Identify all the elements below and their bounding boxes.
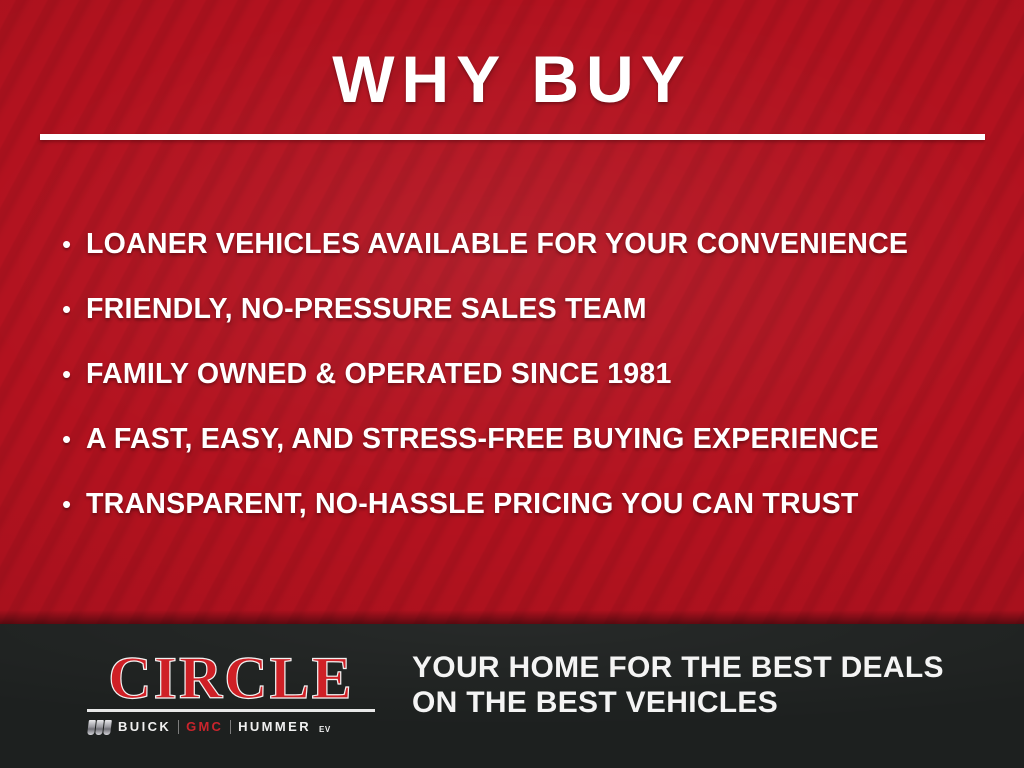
list-item: • A FAST, EASY, AND STRESS-FREE BUYING E… [62,420,1002,485]
brand-label-hummer: HUMMER [238,720,311,734]
page-title: WHY BUY [0,46,1024,112]
tagline-line-1: YOUR HOME FOR THE BEST DEALS [412,650,1012,685]
bullet-text: A FAST, EASY, AND STRESS-FREE BUYING EXP… [86,420,988,458]
tagline-line-2: ON THE BEST VEHICLES [412,685,1012,720]
bullet-dot-icon: • [62,225,86,263]
bullet-dot-icon: • [62,290,86,328]
hero-panel: WHY BUY • LOANER VEHICLES AVAILABLE FOR … [0,0,1024,624]
bullet-dot-icon: • [62,420,86,458]
list-item: • LOANER VEHICLES AVAILABLE FOR YOUR CON… [62,225,1002,290]
title-divider-rule [40,134,985,140]
why-buy-slide: WHY BUY • LOANER VEHICLES AVAILABLE FOR … [0,0,1024,768]
bullet-text: FAMILY OWNED & OPERATED SINCE 1981 [86,355,988,393]
hero-bottom-shadow [0,610,1024,624]
bullet-text: TRANSPARENT, NO-HASSLE PRICING YOU CAN T… [86,485,988,523]
brand-separator-icon [230,720,231,734]
logo-wordmark: CIRCLE [86,652,376,704]
list-item: • TRANSPARENT, NO-HASSLE PRICING YOU CAN… [62,485,1002,550]
brand-separator-icon [178,720,179,734]
brand-label-buick: BUICK [118,720,171,734]
bullet-dot-icon: • [62,485,86,523]
buick-tri-shield-icon [88,720,111,735]
footer-tagline: YOUR HOME FOR THE BEST DEALS ON THE BEST… [412,650,1012,720]
brand-label-hummer-ev-suffix: EV [319,725,331,734]
bullet-text: LOANER VEHICLES AVAILABLE FOR YOUR CONVE… [86,225,988,263]
list-item: • FAMILY OWNED & OPERATED SINCE 1981 [62,355,1002,420]
brand-strip: BUICK GMC HUMMER EV [86,718,376,736]
bullet-text: FRIENDLY, NO-PRESSURE SALES TEAM [86,290,988,328]
bullet-dot-icon: • [62,355,86,393]
benefits-list: • LOANER VEHICLES AVAILABLE FOR YOUR CON… [62,225,1002,550]
brand-label-gmc: GMC [186,720,223,734]
list-item: • FRIENDLY, NO-PRESSURE SALES TEAM [62,290,1002,355]
dealer-logo: CIRCLE BUICK GMC HUMMER EV [86,652,376,736]
